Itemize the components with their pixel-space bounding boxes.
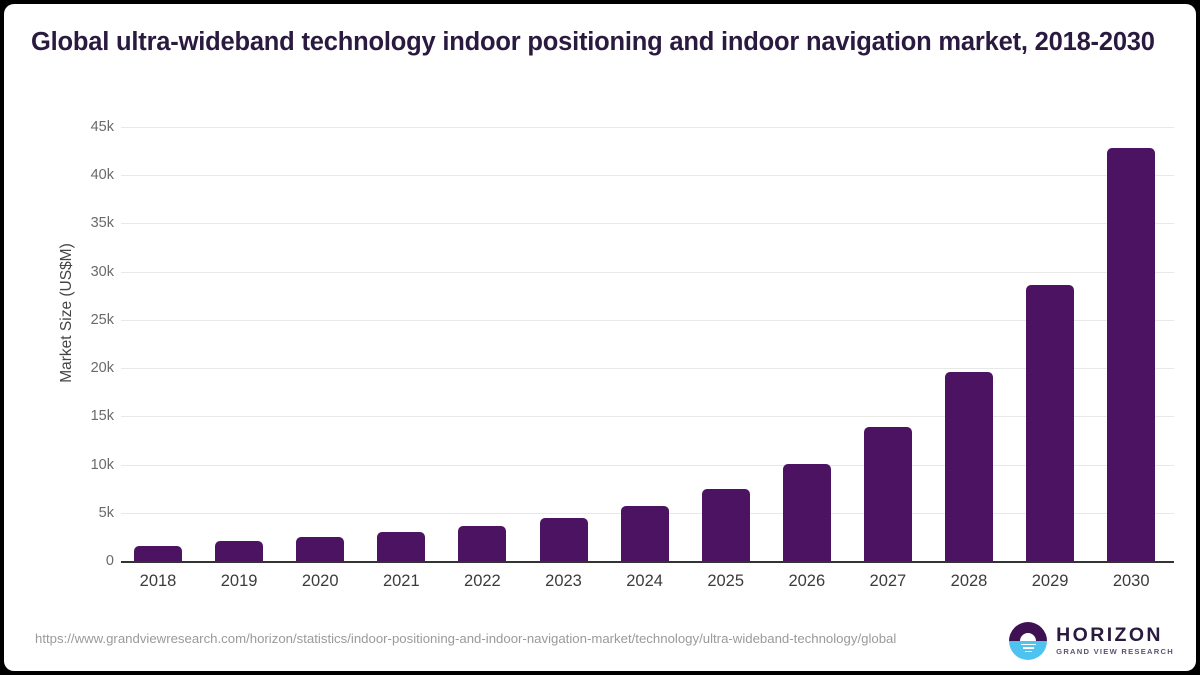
gridline: [121, 368, 1174, 369]
y-axis-tick-label: 35k: [62, 215, 114, 231]
sun-ray-icon: [1025, 651, 1032, 653]
y-axis-tick-label: 5k: [62, 505, 114, 521]
y-axis-tick-label: 15k: [62, 408, 114, 424]
bar[interactable]: [783, 464, 831, 561]
logo-title: HORIZON: [1056, 626, 1174, 646]
bar[interactable]: [945, 372, 993, 561]
horizon-sun-icon: [1009, 622, 1047, 660]
x-axis-tick-label: 2025: [681, 572, 771, 591]
logo-subtitle: GRAND VIEW RESEARCH: [1056, 648, 1174, 656]
sun-ray-icon: [1023, 647, 1034, 649]
gridline: [121, 320, 1174, 321]
bar[interactable]: [702, 489, 750, 561]
y-axis-tick-label: 30k: [62, 264, 114, 280]
y-axis-tick-label: 45k: [62, 119, 114, 135]
y-axis-tick-label: 0: [62, 553, 114, 569]
x-axis-tick-label: 2019: [194, 572, 284, 591]
x-axis-tick-label: 2030: [1086, 572, 1176, 591]
source-url[interactable]: https://www.grandviewresearch.com/horizo…: [35, 630, 935, 649]
sun-ray-icon: [1021, 644, 1036, 646]
gridline: [121, 416, 1174, 417]
bar[interactable]: [215, 541, 263, 561]
chart-plot-area: Market Size (US$M) 05k10k15k20k25k30k35k…: [4, 4, 1196, 671]
bar[interactable]: [621, 506, 669, 561]
gridline: [121, 272, 1174, 273]
x-axis-tick-label: 2023: [519, 572, 609, 591]
screenshot-frame: Global ultra-wideband technology indoor …: [0, 0, 1200, 675]
x-axis-tick-label: 2022: [437, 572, 527, 591]
gridline: [121, 223, 1174, 224]
sun-shape: [1020, 633, 1036, 641]
gridline: [121, 175, 1174, 176]
gridline: [121, 465, 1174, 466]
x-axis-tick-label: 2021: [356, 572, 446, 591]
bar[interactable]: [540, 518, 588, 561]
y-axis-tick-label: 25k: [62, 312, 114, 328]
gridline: [121, 127, 1174, 128]
logo-wordmark: HORIZON GRAND VIEW RESEARCH: [1056, 626, 1174, 656]
bar[interactable]: [296, 537, 344, 561]
x-axis-tick-label: 2028: [924, 572, 1014, 591]
horizon-logo: HORIZON GRAND VIEW RESEARCH: [1009, 622, 1174, 660]
bar[interactable]: [1107, 148, 1155, 561]
bar[interactable]: [864, 427, 912, 561]
x-axis-tick-label: 2026: [762, 572, 852, 591]
y-axis-tick-label: 40k: [62, 167, 114, 183]
x-axis-tick-label: 2020: [275, 572, 365, 591]
x-axis-tick-label: 2018: [113, 572, 203, 591]
y-axis-tick-label: 20k: [62, 360, 114, 376]
x-axis-tick-label: 2024: [600, 572, 690, 591]
bar[interactable]: [377, 532, 425, 561]
bar[interactable]: [458, 526, 506, 561]
bar[interactable]: [134, 546, 182, 561]
x-axis-tick-label: 2027: [843, 572, 933, 591]
y-axis-tick-label: 10k: [62, 457, 114, 473]
chart-card: Global ultra-wideband technology indoor …: [4, 4, 1196, 671]
x-axis-tick-label: 2029: [1005, 572, 1095, 591]
bar[interactable]: [1026, 285, 1074, 561]
x-axis-line: [121, 561, 1174, 563]
